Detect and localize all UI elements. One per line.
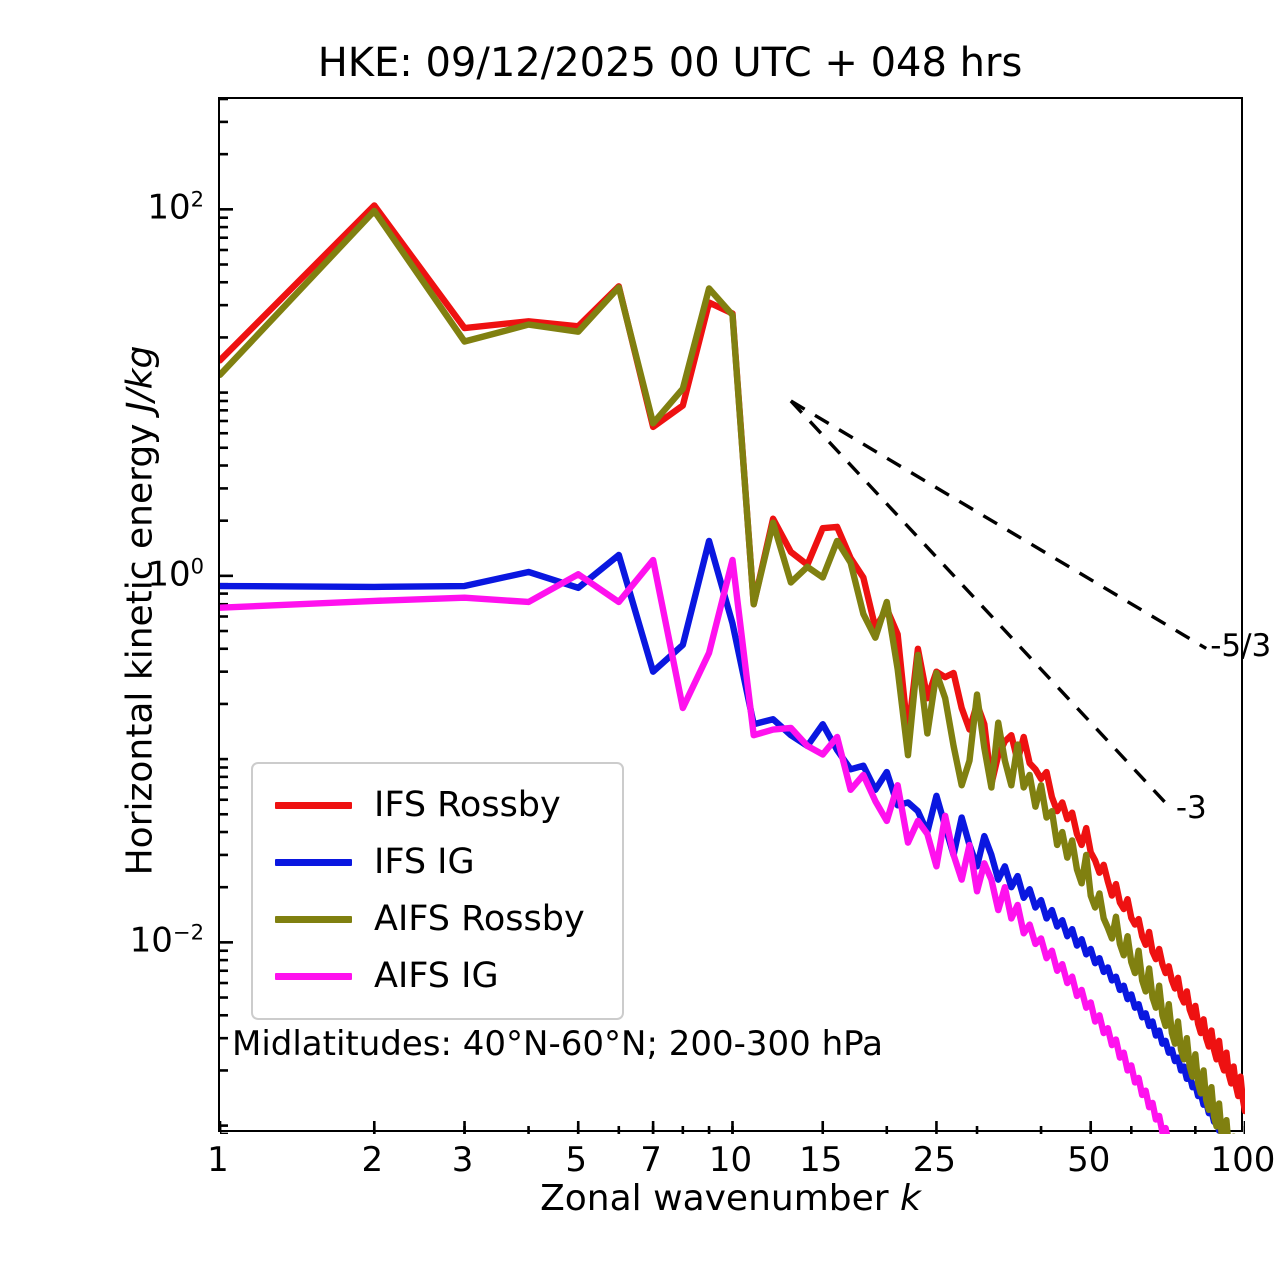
x-axis-label: Zonal wavenumber k (218, 1178, 1243, 1219)
slope-label: -5/3 (1210, 628, 1271, 664)
x-tick-label: 50 (1067, 1140, 1110, 1180)
legend-color-swatch (275, 973, 352, 980)
legend-label: IFS Rossby (374, 788, 561, 823)
legend-item[interactable]: AIFS IG (253, 948, 622, 1005)
x-tick-label: 10 (709, 1140, 752, 1180)
legend-item[interactable]: IFS Rossby (253, 777, 622, 834)
chart-figure: HKE: 09/12/2025 00 UTC + 048 hrs Horizon… (0, 0, 1280, 1288)
x-tick-label: 5 (565, 1140, 587, 1180)
legend[interactable]: IFS RossbyIFS IGAIFS RossbyAIFS IG (251, 762, 624, 1020)
legend-color-swatch (275, 916, 352, 923)
legend-label: IFS IG (374, 845, 475, 880)
x-tick-label: 100 (1211, 1140, 1276, 1180)
y-tick-label: 100 (147, 553, 204, 594)
legend-item[interactable]: AIFS Rossby (253, 891, 622, 948)
slope-label: -3 (1176, 790, 1207, 826)
x-tick-label: 25 (913, 1140, 956, 1180)
plot-area: IFS RossbyIFS IGAIFS RossbyAIFS IG Midla… (218, 97, 1243, 1132)
y-axis-label-text: Horizontal kinetic energy (120, 412, 161, 875)
y-tick-label: 102 (147, 187, 204, 228)
x-axis-label-text: Zonal wavenumber (540, 1178, 900, 1219)
x-tick-label: 2 (361, 1140, 383, 1180)
legend-color-swatch (275, 802, 352, 809)
x-tick-label: 15 (799, 1140, 842, 1180)
y-axis-label-units: J/kg (120, 346, 161, 412)
legend-item[interactable]: IFS IG (253, 834, 622, 891)
x-tick-label: 1 (207, 1140, 229, 1180)
y-axis-label: Horizontal kinetic energy J/kg (120, 181, 161, 1041)
x-axis-label-symbol: k (900, 1178, 921, 1219)
chart-title: HKE: 09/12/2025 00 UTC + 048 hrs (0, 40, 1280, 86)
x-tick-label: 3 (452, 1140, 474, 1180)
legend-label: AIFS Rossby (374, 902, 585, 937)
x-tick-label: 7 (640, 1140, 662, 1180)
legend-color-swatch (275, 859, 352, 866)
legend-label: AIFS IG (374, 959, 499, 994)
region-annotation: Midlatitudes: 40°N-60°N; 200-300 hPa (232, 1024, 883, 1064)
reference-line (791, 401, 1206, 648)
y-tick-label: 10−2 (130, 920, 204, 961)
